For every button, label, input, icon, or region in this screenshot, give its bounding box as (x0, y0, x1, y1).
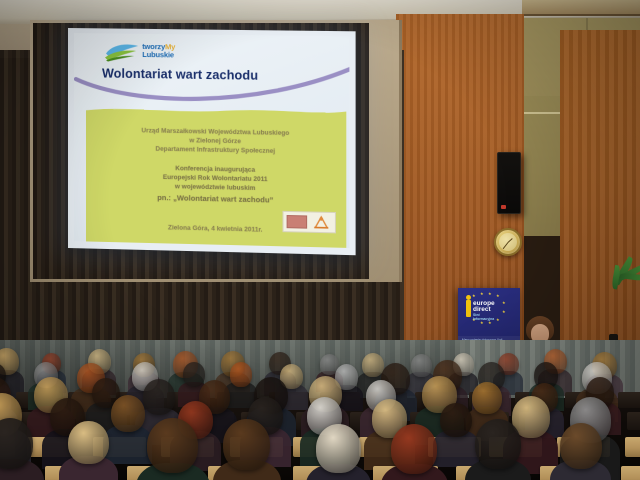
slide-emphasis: pn.: „Wolontariat wart zachodu” (86, 191, 346, 206)
eu-star-icon: ★ (472, 294, 476, 298)
eu-star-icon: ★ (480, 292, 484, 296)
eu-star-icon: ★ (480, 321, 484, 325)
eu-star-icon: ★ (502, 310, 506, 314)
soffit-beam (522, 0, 640, 16)
audience-member-head (391, 424, 437, 474)
eu-star-icon: ★ (496, 318, 500, 322)
logo-i-bar-icon (466, 300, 471, 317)
clock-minute-hand (503, 242, 509, 249)
audience-member-head (143, 379, 175, 414)
wall-clock (494, 228, 522, 256)
eu-star-icon: ★ (488, 321, 492, 325)
audience-member-head (560, 423, 602, 469)
audience-member-head (68, 421, 108, 465)
logo-line2: Lubuskie (142, 51, 175, 59)
audience-member-head (316, 424, 361, 473)
green-panel-top-edge (86, 105, 346, 119)
eu-star-icon: ★ (488, 292, 492, 296)
lubuskie-swoosh-icon (104, 42, 140, 63)
slide-mini-logos (282, 211, 335, 234)
audience-member-head (111, 395, 145, 432)
projection-screen: tworzyMy Lubuskie Wolontariat wart zacho… (68, 28, 356, 255)
wall-loudspeaker (497, 152, 521, 214)
potted-palm-plant (596, 250, 640, 308)
audience-member-head (147, 418, 198, 473)
audience-member-head (223, 419, 270, 470)
seat-back (621, 466, 640, 480)
slide-title: Wolontariat wart zachodu (102, 66, 258, 82)
conference-hall-photo: tworzyMy Lubuskie Wolontariat wart zacho… (0, 0, 640, 480)
audience-member-head (472, 382, 501, 414)
seat-back (625, 437, 640, 457)
seat-back (618, 392, 640, 408)
mini-logo-figure-icon (310, 215, 332, 230)
presentation-slide: tworzyMy Lubuskie Wolontariat wart zacho… (74, 33, 349, 248)
speaker-led-icon (501, 205, 506, 209)
audience-member-head (230, 362, 253, 387)
seat-back (627, 412, 640, 430)
clock-face (499, 233, 517, 251)
logo-text: tworzyMy Lubuskie (142, 43, 175, 59)
banner-subtitle: Sieć Informacyjna (473, 313, 494, 321)
slide-green-panel: Urząd Marszałkowski Województwa Lubuskie… (86, 110, 346, 248)
eu-star-icon: ★ (502, 301, 506, 305)
audience-member-head (183, 362, 205, 386)
eu-star-icon: ★ (496, 294, 500, 298)
mini-logo-red-block-icon (287, 215, 307, 229)
audience-member-head (411, 354, 432, 377)
audience-member-head (440, 403, 472, 437)
audience-member-head (475, 419, 521, 469)
